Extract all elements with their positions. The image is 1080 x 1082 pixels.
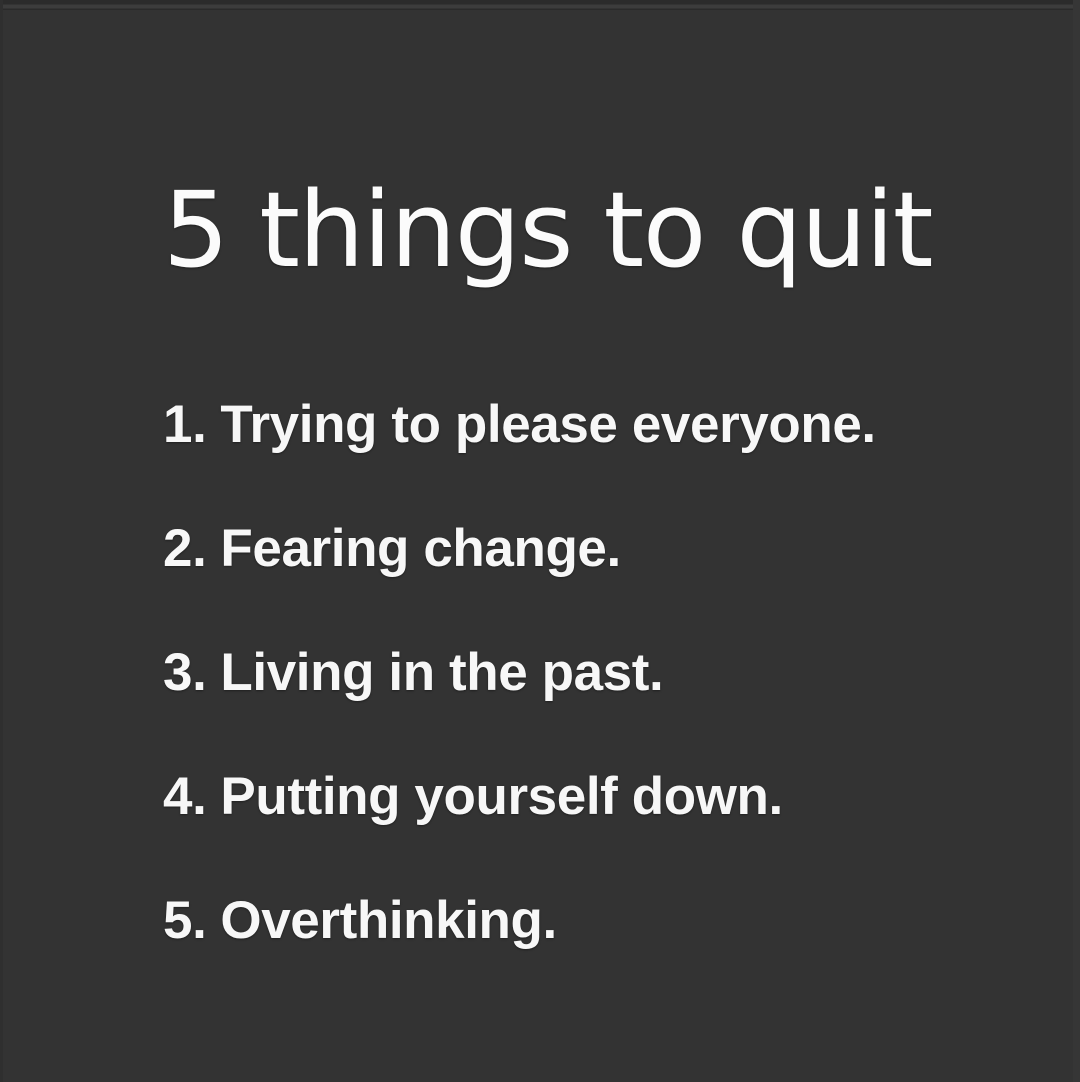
list-item-number: 2. xyxy=(163,522,206,575)
left-edge-band xyxy=(0,0,3,1082)
list-item-number: 3. xyxy=(163,646,206,699)
list-item: 1. Trying to please everyone. xyxy=(163,398,1023,522)
quit-list: 1. Trying to please everyone. 2. Fearing… xyxy=(163,398,1023,1018)
right-edge-band xyxy=(1073,0,1080,1082)
list-item-number: 1. xyxy=(163,398,206,451)
list-item: 2. Fearing change. xyxy=(163,522,1023,646)
list-item-text: Putting yourself down. xyxy=(220,770,782,823)
list-item: 3. Living in the past. xyxy=(163,646,1023,770)
list-item-number: 4. xyxy=(163,770,206,823)
top-edge-light-band xyxy=(0,5,1080,8)
quote-card: 5 things to quit 1. Trying to please eve… xyxy=(0,0,1080,1082)
list-item: 5. Overthinking. xyxy=(163,894,1023,1018)
list-item: 4. Putting yourself down. xyxy=(163,770,1023,894)
top-edge-hairline xyxy=(0,9,1080,10)
list-item-text: Living in the past. xyxy=(220,646,663,699)
list-item-number: 5. xyxy=(163,894,206,947)
top-edge-dark-band xyxy=(0,0,1080,4)
quote-title: 5 things to quit xyxy=(163,178,963,282)
list-item-text: Fearing change. xyxy=(220,522,620,575)
list-item-text: Trying to please everyone. xyxy=(220,398,875,451)
list-item-text: Overthinking. xyxy=(220,894,556,947)
